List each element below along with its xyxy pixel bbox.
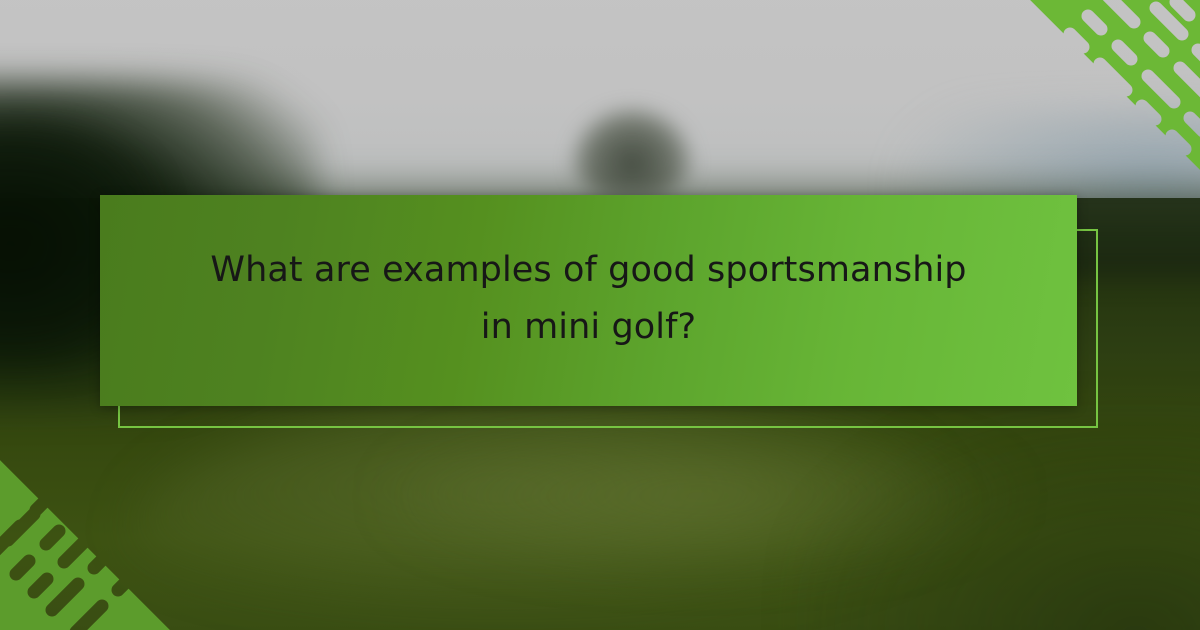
question-card: What are examples of good sportsmanship …	[100, 195, 1077, 406]
social-card-canvas: What are examples of good sportsmanship …	[0, 0, 1200, 630]
grass-shadow-bottom-right	[800, 410, 1200, 630]
question-text: What are examples of good sportsmanship …	[194, 242, 984, 355]
